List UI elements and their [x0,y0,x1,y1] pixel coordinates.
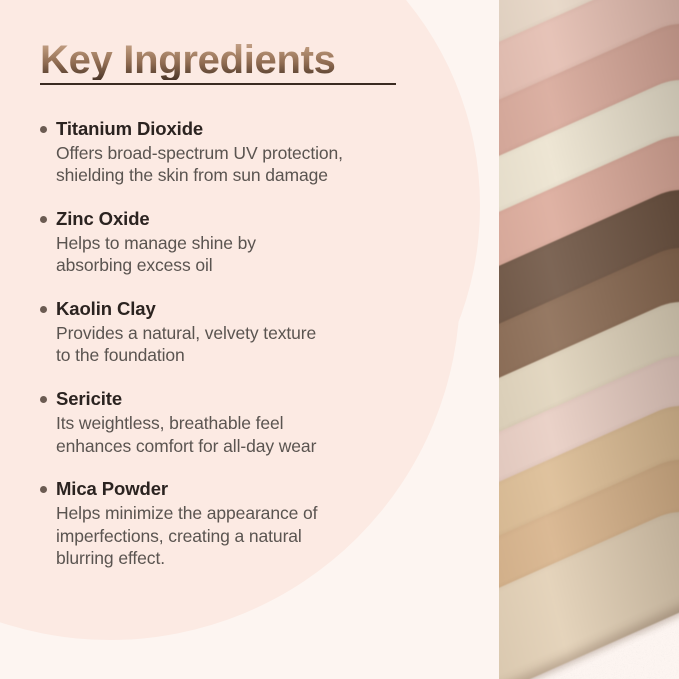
powder-swatch-layers [499,0,679,679]
ingredient-item: Kaolin ClayProvides a natural, velvety t… [38,298,448,367]
ingredient-description: Its weightless, breathable feel enhances… [56,412,448,458]
ingredients-poster: Key Ingredients Titanium DioxideOffers b… [0,0,679,679]
page-title-block: Key Ingredients [40,40,440,85]
ingredient-item: Mica PowderHelps minimize the appearance… [38,478,448,570]
bullet-icon [40,306,47,313]
ingredient-item: SericiteIts weightless, breathable feel … [38,388,448,457]
bullet-icon [40,216,47,223]
bullet-icon [40,126,47,133]
bullet-icon [40,396,47,403]
powder-swatch-image [499,0,679,679]
ingredient-name: Titanium Dioxide [56,118,448,141]
ingredient-name: Sericite [56,388,448,411]
text-column: Key Ingredients Titanium DioxideOffers b… [0,0,470,679]
ingredient-item: Zinc OxideHelps to manage shine by absor… [38,208,448,277]
page-title: Key Ingredients [40,40,336,80]
ingredient-list: Titanium DioxideOffers broad-spectrum UV… [38,118,448,570]
ingredient-description: Helps to manage shine by absorbing exces… [56,232,448,278]
ingredient-description: Provides a natural, velvety texture to t… [56,322,448,368]
ingredient-description: Helps minimize the appearance of imperfe… [56,502,448,570]
bullet-icon [40,486,47,493]
ingredient-description: Offers broad-spectrum UV protection, shi… [56,142,448,188]
ingredient-item: Titanium DioxideOffers broad-spectrum UV… [38,118,448,187]
ingredient-name: Zinc Oxide [56,208,448,231]
ingredient-name: Mica Powder [56,478,448,501]
title-underline [40,83,396,85]
ingredient-name: Kaolin Clay [56,298,448,321]
